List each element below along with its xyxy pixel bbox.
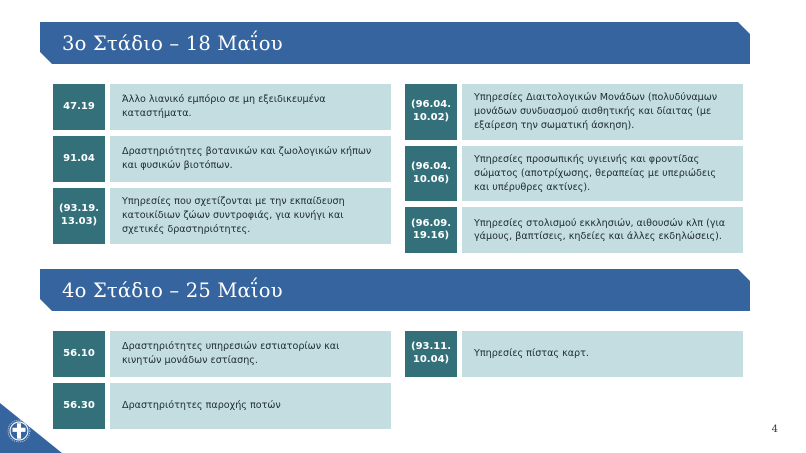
stage3-left-column: 47.19 Άλλο λιανικό εμπόριο σε μη εξειδικ… — [53, 84, 391, 250]
item-code-line: 13.03) — [61, 216, 97, 229]
item-description: Δραστηριότητες υπηρεσιών εστιατορίων και… — [110, 331, 391, 377]
item-code-badge: 47.19 — [53, 84, 105, 130]
item-code-badge: (96.04. 10.02) — [405, 84, 457, 140]
hellenic-republic-emblem — [0, 403, 62, 453]
item-code-line: 91.04 — [63, 153, 95, 166]
item-description: Υπηρεσίες Διαιτολογικών Μονάδων (πολυδύν… — [462, 84, 743, 140]
item-code-line: (93.19. — [59, 203, 99, 216]
item-code-line: 56.10 — [63, 348, 95, 361]
slide-canvas: 3ο Στάδιο – 18 Μαΐου 47.19 Άλλο λιανικό … — [0, 0, 806, 453]
item-code-line: 56.30 — [63, 400, 95, 413]
item-description: Δραστηριότητες βοτανικών και ζωολογικών … — [110, 136, 391, 182]
item-code-line: (96.09. — [411, 218, 451, 231]
item-description-text: Υπηρεσίες Διαιτολογικών Μονάδων (πολυδύν… — [474, 91, 733, 133]
item-code-line: (96.04. — [411, 161, 451, 174]
item-code-line: (96.04. — [411, 99, 451, 112]
item-description: Υπηρεσίες προσωπικής υγιεινής και φροντί… — [462, 146, 743, 202]
item-code-line: (93.11. — [411, 341, 451, 354]
item-description-text: Δραστηριότητες παροχής ποτών — [122, 399, 281, 413]
item-code-badge: (93.11. 10.04) — [405, 331, 457, 377]
list-item: 56.10 Δραστηριότητες υπηρεσιών εστιατορί… — [53, 331, 391, 377]
stage4-right-column: (93.11. 10.04) Υπηρεσίες πίστας καρτ. — [405, 331, 743, 383]
coat-of-arms-icon — [6, 418, 32, 444]
item-description-text: Δραστηριότητες υπηρεσιών εστιατορίων και… — [122, 340, 381, 368]
item-description: Δραστηριότητες παροχής ποτών — [110, 383, 391, 429]
item-description-text: Υπηρεσίες πίστας καρτ. — [474, 347, 589, 361]
item-code-line: 10.02) — [413, 112, 449, 125]
list-item: 91.04 Δραστηριότητες βοτανικών και ζωολο… — [53, 136, 391, 182]
item-code-line: 10.06) — [413, 174, 449, 187]
page-number: 4 — [772, 424, 778, 435]
item-code-badge: 56.10 — [53, 331, 105, 377]
list-item: (93.19. 13.03) Υπηρεσίες που σχετίζονται… — [53, 188, 391, 244]
list-item: (96.04. 10.06) Υπηρεσίες προσωπικής υγιε… — [405, 146, 743, 202]
item-description-text: Άλλο λιανικό εμπόριο σε μη εξειδικευμένα… — [122, 93, 381, 121]
item-description: Άλλο λιανικό εμπόριο σε μη εξειδικευμένα… — [110, 84, 391, 130]
item-code-line: 19.16) — [413, 230, 449, 243]
item-description-text: Υπηρεσίες προσωπικής υγιεινής και φροντί… — [474, 153, 733, 195]
item-description: Υπηρεσίες που σχετίζονται με την εκπαίδε… — [110, 188, 391, 244]
item-code-badge: 91.04 — [53, 136, 105, 182]
item-description: Υπηρεσίες στολισμού εκκλησιών, αιθουσών … — [462, 207, 743, 253]
item-code-line: 10.04) — [413, 354, 449, 367]
list-item: (93.11. 10.04) Υπηρεσίες πίστας καρτ. — [405, 331, 743, 377]
item-description-text: Υπηρεσίες στολισμού εκκλησιών, αιθουσών … — [474, 217, 733, 245]
item-description: Υπηρεσίες πίστας καρτ. — [462, 331, 743, 377]
item-description-text: Δραστηριότητες βοτανικών και ζωολογικών … — [122, 145, 381, 173]
stage-banner-stage3: 3ο Στάδιο – 18 Μαΐου — [40, 22, 750, 64]
list-item: (96.09. 19.16) Υπηρεσίες στολισμού εκκλη… — [405, 207, 743, 253]
item-code-line: 47.19 — [63, 101, 95, 114]
stage-title-stage4: 4ο Στάδιο – 25 Μαΐου — [62, 279, 283, 302]
list-item: 56.30 Δραστηριότητες παροχής ποτών — [53, 383, 391, 429]
list-item: (96.04. 10.02) Υπηρεσίες Διαιτολογικών Μ… — [405, 84, 743, 140]
stage-banner-stage4: 4ο Στάδιο – 25 Μαΐου — [40, 269, 750, 311]
stage4-left-column: 56.10 Δραστηριότητες υπηρεσιών εστιατορί… — [53, 331, 391, 435]
item-code-badge: (96.09. 19.16) — [405, 207, 457, 253]
item-code-badge: (96.04. 10.06) — [405, 146, 457, 202]
stage-title-stage3: 3ο Στάδιο – 18 Μαΐου — [62, 32, 283, 55]
item-code-badge: (93.19. 13.03) — [53, 188, 105, 244]
stage3-right-column: (96.04. 10.02) Υπηρεσίες Διαιτολογικών Μ… — [405, 84, 743, 259]
item-description-text: Υπηρεσίες που σχετίζονται με την εκπαίδε… — [122, 195, 381, 237]
list-item: 47.19 Άλλο λιανικό εμπόριο σε μη εξειδικ… — [53, 84, 391, 130]
